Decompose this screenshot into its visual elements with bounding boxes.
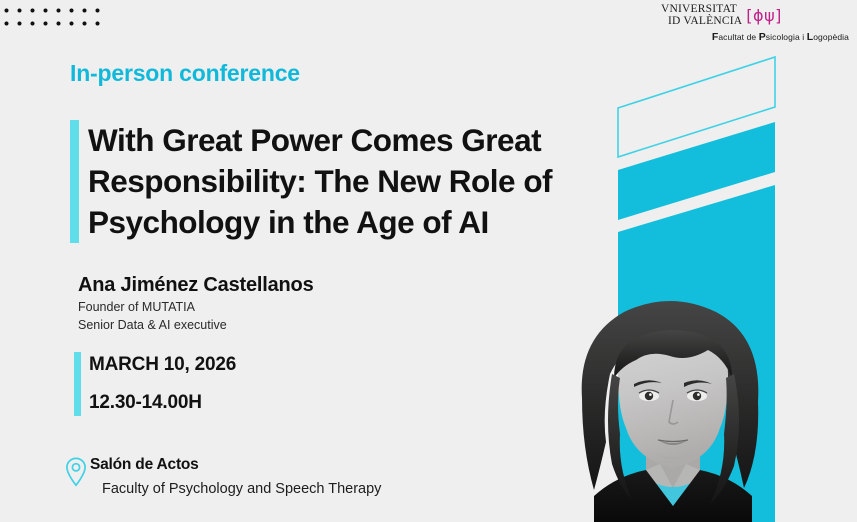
speaker-role: Founder of MUTATIA — [78, 299, 498, 315]
datetime-text: MARCH 10, 2026 12.30-14.00H — [81, 352, 236, 416]
venue-faculty: Faculty of Psychology and Speech Therapy — [90, 479, 381, 499]
page-title: With Great Power Comes Great Responsibil… — [79, 120, 615, 243]
faculty-de: de — [744, 32, 759, 42]
datetime-block: MARCH 10, 2026 12.30-14.00H — [74, 352, 236, 416]
speaker-position: Senior Data & AI executive — [78, 317, 498, 333]
faculty-ogopedia: ogopèdia — [813, 32, 849, 42]
speaker-block: Ana Jiménez Castellanos Founder of MUTAT… — [78, 274, 498, 333]
outline-parallelogram-shape — [618, 57, 775, 157]
logo-faculty-name: Facultat de Psicologia i Logopèdia — [657, 31, 849, 43]
conference-type-label: In-person conference — [70, 60, 300, 87]
venue-text: Salón de Actos Faculty of Psychology and… — [88, 455, 381, 499]
datetime-accent-bar — [74, 352, 81, 416]
location-pin-icon — [64, 456, 88, 488]
logo-wordmark: VNIVERSITAT ID VALÈNCIA [ϕψ] — [657, 4, 849, 27]
logo-university-name: VNIVERSITAT ID VALÈNCIA — [661, 4, 742, 27]
speaker-name: Ana Jiménez Castellanos — [78, 274, 498, 297]
cyan-parallelogram-shape-1 — [618, 122, 775, 220]
venue-name: Salón de Actos — [90, 456, 199, 473]
venue-block: Salón de Actos Faculty of Psychology and… — [64, 455, 381, 499]
event-poster: VNIVERSITAT ID VALÈNCIA [ϕψ] Facultat de… — [0, 0, 857, 522]
faculty-sicologia: sicologia — [766, 32, 800, 42]
dot-grid-pattern — [0, 0, 103, 31]
faculty-p: P — [759, 31, 766, 43]
faculty-i: i — [800, 32, 807, 42]
event-date: MARCH 10, 2026 — [89, 352, 236, 378]
logo-line-2: ID VALÈNCIA — [661, 16, 742, 28]
title-block: With Great Power Comes Great Responsibil… — [70, 120, 615, 243]
logo-greek-symbols: ϕψ — [753, 6, 775, 25]
speaker-portrait — [558, 282, 788, 522]
event-time: 12.30-14.00H — [89, 390, 236, 416]
faculty-acultat: acultat — [718, 32, 744, 42]
university-logo: VNIVERSITAT ID VALÈNCIA [ϕψ] Facultat de… — [657, 4, 849, 43]
logo-bracket-symbol: [ϕψ] — [746, 8, 782, 24]
logo-line-1: VNIVERSITAT — [661, 3, 737, 15]
logo-bracket-close: ] — [775, 6, 782, 25]
speaker-portrait-image — [558, 282, 788, 522]
title-accent-bar — [70, 120, 79, 243]
